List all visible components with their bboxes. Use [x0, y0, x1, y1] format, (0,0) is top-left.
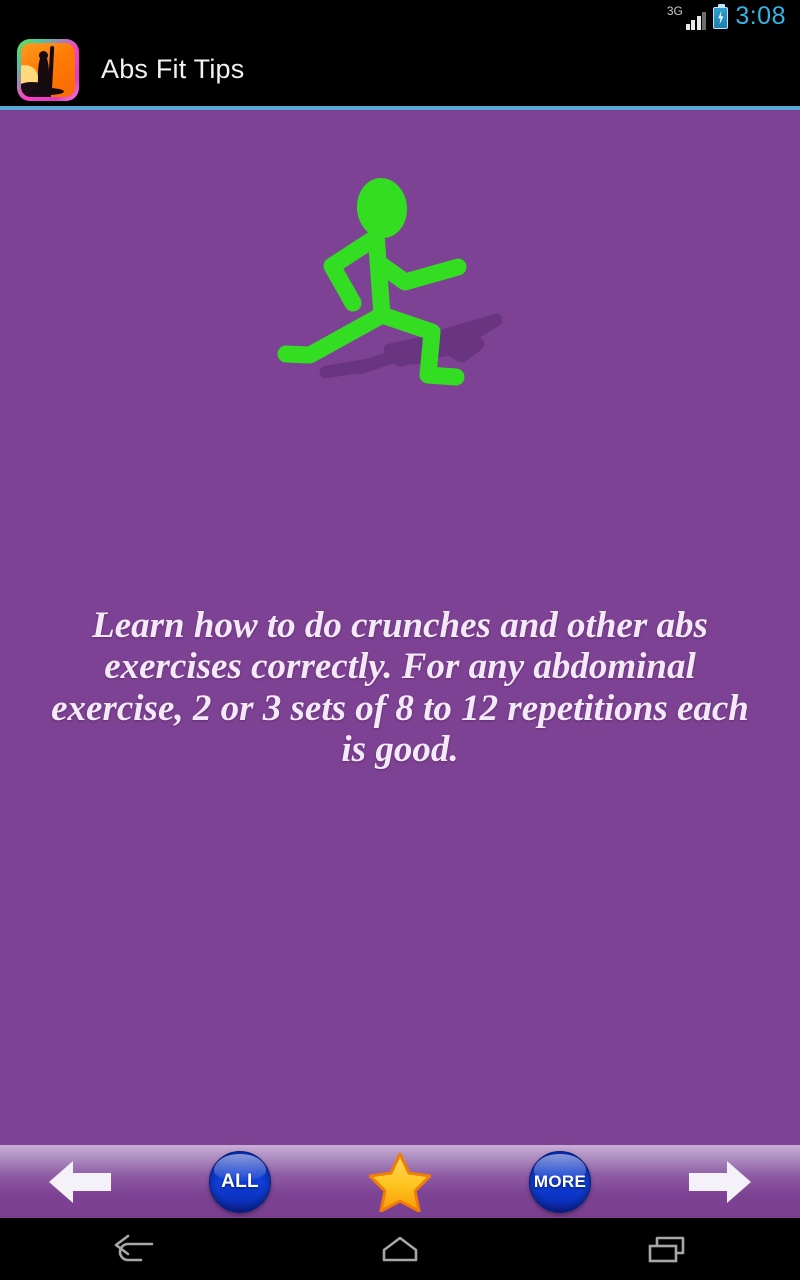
arrow-right-icon [687, 1159, 753, 1205]
signal-bars-icon [686, 8, 707, 30]
nav-recents-button[interactable] [533, 1234, 800, 1264]
more-button[interactable]: MORE [480, 1145, 640, 1218]
tip-text: Learn how to do crunches and other abs e… [38, 605, 762, 771]
nav-home-button[interactable] [267, 1234, 534, 1264]
running-stick-figure-illustration [0, 170, 800, 490]
favorite-button[interactable] [320, 1145, 480, 1218]
arrow-left-icon [47, 1159, 113, 1205]
star-icon [369, 1152, 431, 1212]
action-bar: Abs Fit Tips [0, 33, 800, 106]
status-bar-icons: 3G 3:08 [667, 4, 786, 30]
app-launcher-icon[interactable] [17, 39, 79, 101]
nav-back-button[interactable] [0, 1234, 267, 1264]
home-icon [378, 1234, 422, 1264]
next-button[interactable] [640, 1145, 800, 1218]
network-type-label: 3G [667, 5, 683, 17]
all-button[interactable]: ALL [160, 1145, 320, 1218]
phone-screen: 3G 3:08 Abs Fit Tips [0, 0, 800, 1280]
status-bar-clock: 3:08 [735, 4, 786, 29]
app-title: Abs Fit Tips [101, 54, 244, 85]
stick-figure-svg [240, 170, 560, 400]
back-icon [111, 1234, 155, 1264]
content-area: Learn how to do crunches and other abs e… [0, 110, 800, 1145]
android-nav-bar [0, 1218, 800, 1280]
app-toolbar: ALL MORE [0, 1145, 800, 1218]
status-bar: 3G 3:08 [0, 0, 800, 33]
battery-charging-icon [713, 7, 728, 29]
previous-button[interactable] [0, 1145, 160, 1218]
more-button-label: MORE [534, 1172, 586, 1192]
recents-icon [645, 1234, 689, 1264]
all-button-label: ALL [221, 1171, 259, 1193]
